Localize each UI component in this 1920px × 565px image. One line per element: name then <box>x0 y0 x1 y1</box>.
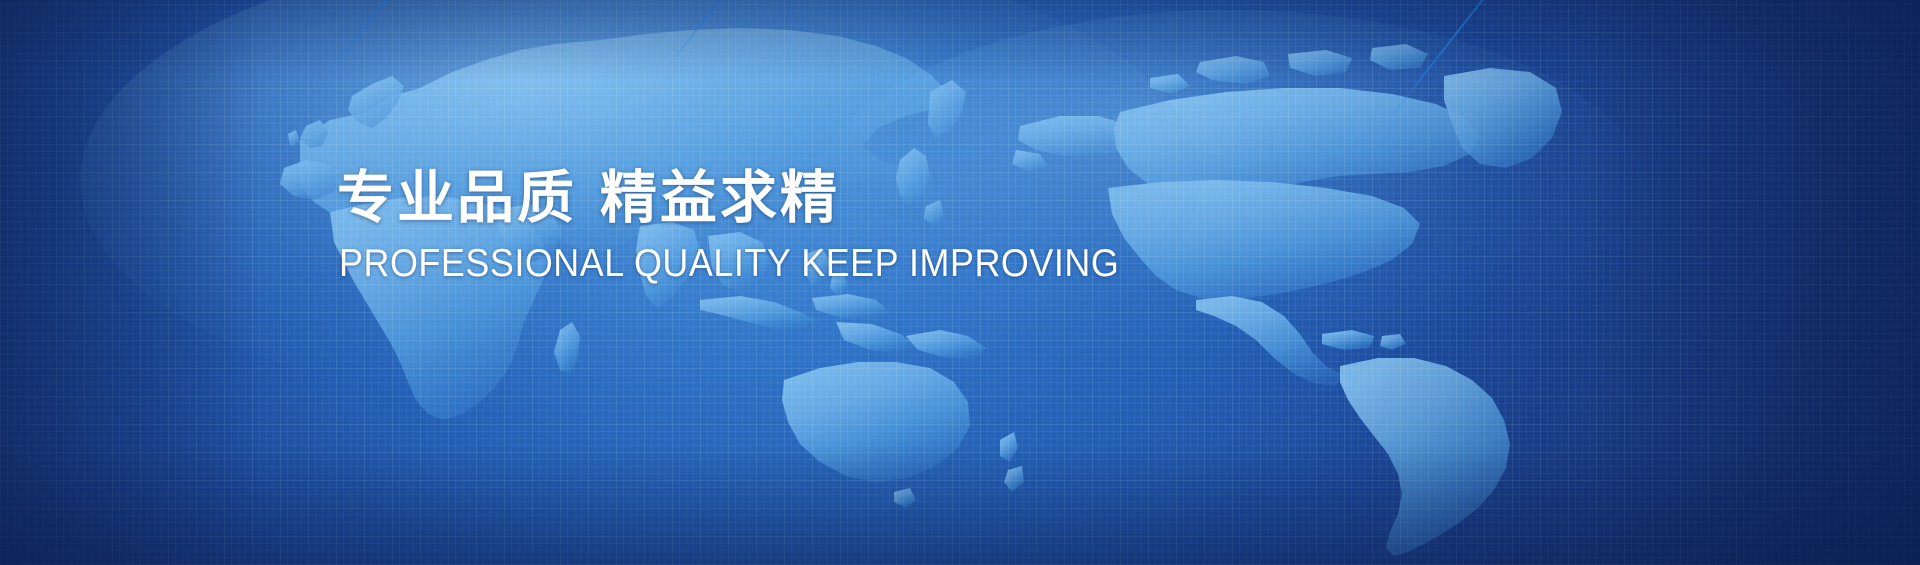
hero-banner: 专业品质 精益求精 PROFESSIONAL QUALITY KEEP IMPR… <box>0 0 1920 565</box>
edge-shade-bottom <box>0 445 1920 565</box>
slogan-subhead-en: PROFESSIONAL QUALITY KEEP IMPROVING <box>339 244 1184 285</box>
slogan-block: 专业品质 精益求精 PROFESSIONAL QUALITY KEEP IMPR… <box>337 168 1257 284</box>
slogan-headline-cn: 专业品质 精益求精 <box>337 168 1257 230</box>
